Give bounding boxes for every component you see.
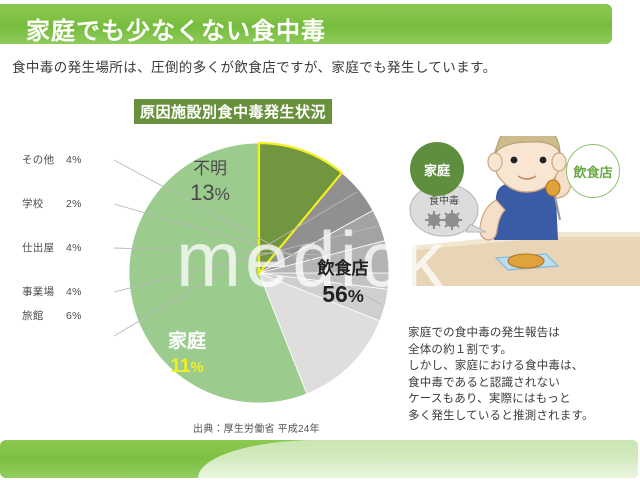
- pie-outer-label-name: 旅館: [22, 308, 62, 323]
- pie-outer-label-value: 4%: [66, 154, 82, 166]
- note-line-4: ケースもあり、実際にはもっと: [408, 391, 594, 408]
- pie-label-unknown: 不明 13%: [170, 158, 250, 207]
- note-line-1: 全体の約１割です。: [408, 342, 594, 359]
- pie-outer-label-事業場: 事業場4%: [22, 284, 82, 299]
- badge-restaurant-label: 飲食店: [573, 162, 612, 181]
- pie-label-restaurant: 飲食店 56%: [298, 258, 388, 310]
- footer-band: [0, 440, 638, 478]
- left-ear: [488, 153, 502, 171]
- chart-title-badge: 原因施設別食中毒発生状況: [134, 99, 332, 124]
- note-line-3: 食中毒であると認識されない: [408, 375, 594, 392]
- pie-label-home: 家庭 11%: [148, 330, 226, 381]
- food-on-plate: [508, 254, 544, 268]
- note-line-0: 家庭での食中毒の発生報告は: [408, 325, 594, 342]
- badge-home-label: 家庭: [424, 160, 450, 179]
- pie-outer-label-value: 2%: [66, 198, 82, 210]
- food-on-fork: [546, 180, 560, 196]
- badge-restaurant: 飲食店: [566, 144, 620, 198]
- pie-outer-label-その他: その他4%: [22, 152, 82, 167]
- note-line-2: しかし、家庭における食中毒は、: [408, 358, 594, 375]
- pie-outer-label-name: 学校: [22, 196, 62, 211]
- chart-source: 出典：厚生労働省 平成24年: [193, 420, 320, 435]
- pie-label-unknown-name: 不明: [170, 158, 250, 180]
- pie-label-unknown-value: 13%: [170, 180, 250, 207]
- pie-outer-label-value: 4%: [66, 242, 82, 254]
- footer-sheen: [198, 440, 638, 478]
- page-title: 家庭でも少なくない食中毒: [26, 11, 326, 46]
- speech-bubble-label: 食中毒: [429, 194, 459, 207]
- chart-title-label: 原因施設別食中毒発生状況: [140, 101, 326, 122]
- pie-outer-label-name: 事業場: [22, 284, 62, 299]
- pie-label-home-value: 11%: [148, 354, 226, 381]
- subtitle-text: 食中毒の発生場所は、圧倒的多くが飲食店ですが、家庭でも発生しています。: [12, 56, 496, 76]
- note-line-5: 多く発生していると推測されます。: [408, 408, 594, 425]
- pie-outer-label-旅館: 旅館6%: [22, 308, 82, 323]
- right-eye: [540, 157, 547, 164]
- explanatory-note: 家庭での食中毒の発生報告は全体の約１割です。しかし、家庭における食中毒は、食中毒…: [408, 325, 594, 424]
- right-ear: [552, 153, 566, 171]
- pie-outer-label-name: 仕出屋: [22, 240, 62, 255]
- pie-outer-label-学校: 学校2%: [22, 196, 82, 211]
- pie-label-restaurant-value: 56%: [298, 280, 388, 310]
- slide-canvas: 家庭でも少なくない食中毒 食中毒の発生場所は、圧倒的多くが飲食店ですが、家庭でも…: [0, 0, 640, 480]
- pie-label-home-name: 家庭: [148, 330, 226, 354]
- pie-outer-label-仕出屋: 仕出屋4%: [22, 240, 82, 255]
- pie-outer-label-name: その他: [22, 152, 62, 167]
- pie-outer-label-value: 6%: [66, 310, 82, 322]
- left-eye: [511, 157, 518, 164]
- pie-outer-label-value: 4%: [66, 286, 82, 298]
- badge-home: 家庭: [410, 142, 464, 196]
- pie-label-restaurant-name: 飲食店: [298, 258, 388, 280]
